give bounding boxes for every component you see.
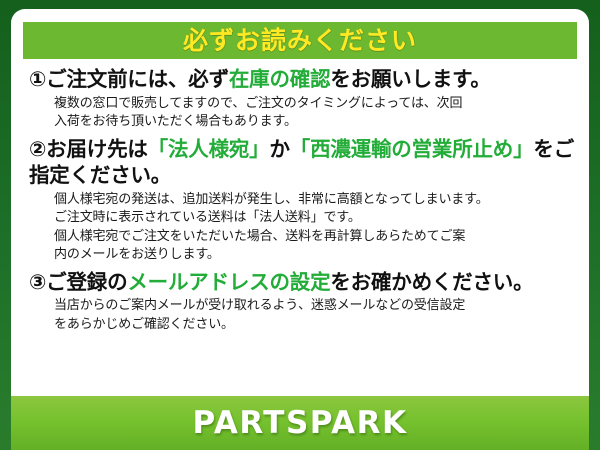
page-title: 必ずお読みください [183, 28, 417, 53]
notice-item-heading-segment: ご注文前には、必ず [46, 67, 229, 91]
notice-frame: 必ずお読みください ①ご注文前には、必ず在庫の確認をお願いします。 複数の窓口で… [0, 0, 600, 450]
notice-item-heading-highlight: 「法人様宛」 [148, 137, 270, 161]
notice-items-list: ①ご注文前には、必ず在庫の確認をお願いします。 複数の窓口で販売してますので、ご… [23, 59, 577, 392]
notice-item: ③ご登録のメールアドレスの設定をお確かめください。 当店からのご案内メールが受け… [29, 269, 575, 335]
brand-footer: PARTSPARK [11, 396, 589, 450]
notice-item-marker: ③ [29, 270, 46, 294]
notice-item-heading-segment: ご登録の [46, 270, 127, 294]
notice-subtext-line: 個人様宅宛の発送は、追加送料が発生し、非常に高額となってしまいます。 [54, 191, 575, 209]
notice-item-subtext: 個人様宅宛の発送は、追加送料が発生し、非常に高額となってしまいます。 ご注文時に… [29, 191, 575, 265]
notice-item-heading-segment: をお願いします。 [330, 67, 490, 91]
notice-item: ②お届け先は「法人様宛」か「西濃運輸の営業所止め」をご指定ください。 個人様宅宛… [29, 136, 575, 265]
notice-item-heading: ③ご登録のメールアドレスの設定をお確かめください。 [29, 269, 575, 296]
notice-item-marker: ② [29, 137, 46, 161]
notice-item-subtext: 複数の窓口で販売してますので、ご注文のタイミングによっては、次回 入荷をお待ち頂… [29, 95, 575, 132]
notice-item-heading-segment: をお確かめください。 [330, 270, 533, 294]
notice-item-heading-highlight: メールアドレスの設定 [127, 270, 330, 294]
notice-subtext-line: 個人様宅宛でご注文をいただいた場合、送料を再計算しあらためてご案 [54, 228, 575, 246]
notice-subtext-line: 入荷をお待ち頂いただく場合もあります。 [54, 113, 575, 131]
notice-subtext-line: ご注文時に表示されている送料は「法人送料」です。 [54, 209, 575, 227]
notice-subtext-line: 当店からのご案内メールが受け取れるよう、迷惑メールなどの受信設定 [54, 297, 575, 315]
notice-item-heading: ②お届け先は「法人様宛」か「西濃運輸の営業所止め」をご指定ください。 [29, 136, 575, 189]
notice-panel: 必ずお読みください ①ご注文前には、必ず在庫の確認をお願いします。 複数の窓口で… [11, 9, 589, 396]
notice-item-marker: ① [29, 67, 46, 91]
notice-subtext-line: をあらかじめご確認ください。 [54, 316, 575, 334]
notice-title-bar: 必ずお読みください [23, 22, 577, 59]
brand-name: PARTSPARK [192, 408, 407, 439]
notice-item-heading: ①ご注文前には、必ず在庫の確認をお願いします。 [29, 66, 575, 93]
notice-item-heading-segment: お届け先は [46, 137, 148, 161]
notice-item-heading-highlight: 在庫の確認 [229, 67, 331, 91]
notice-item-heading-segment: か [269, 137, 289, 161]
notice-subtext-line: 複数の窓口で販売してますので、ご注文のタイミングによっては、次回 [54, 95, 575, 113]
notice-item-heading-highlight: 「西濃運輸の営業所止め」 [290, 137, 534, 161]
notice-item: ①ご注文前には、必ず在庫の確認をお願いします。 複数の窓口で販売してますので、ご… [29, 66, 575, 132]
notice-item-subtext: 当店からのご案内メールが受け取れるよう、迷惑メールなどの受信設定 をあらかじめご… [29, 297, 575, 334]
notice-subtext-line: 内のメールをお送りします。 [54, 246, 575, 264]
